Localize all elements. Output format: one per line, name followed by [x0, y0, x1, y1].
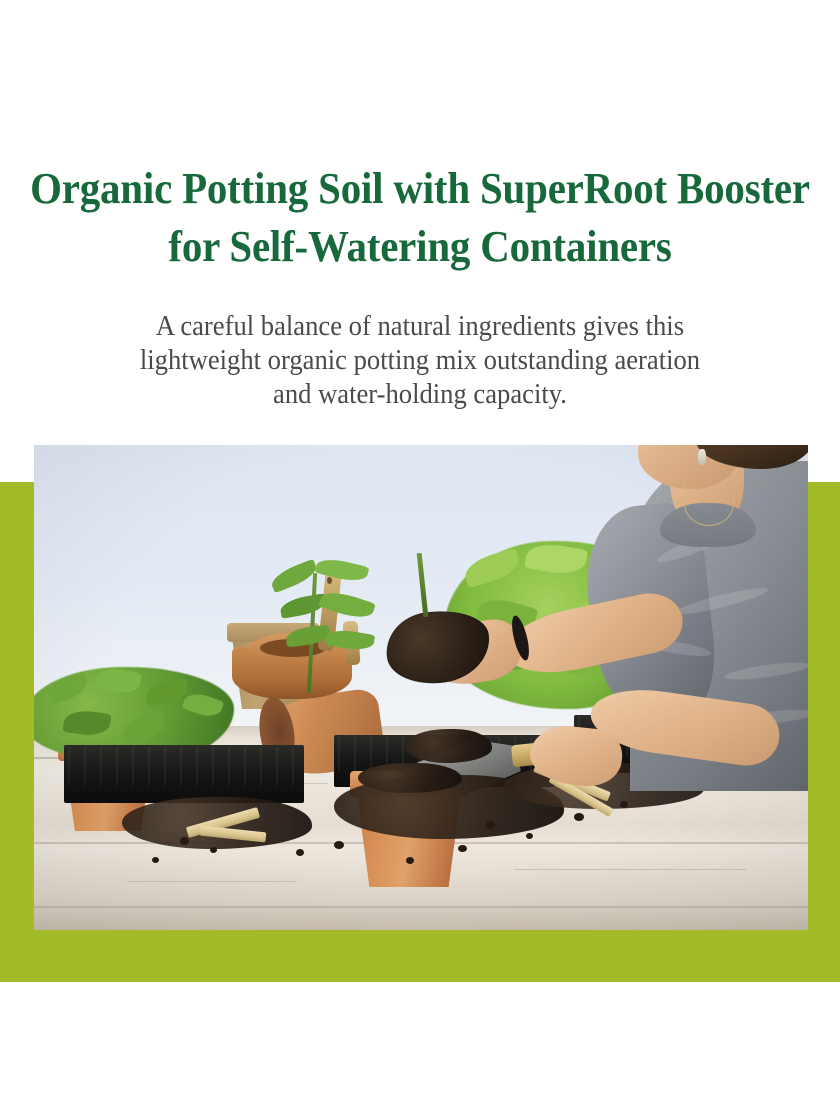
product-description: A careful balance of natural ingredients…	[70, 310, 770, 412]
necklace	[684, 481, 734, 526]
soil-in-pot	[358, 763, 462, 793]
product-page: Organic Potting Soil with SuperRoot Boos…	[0, 0, 840, 1120]
headline-line-1: Organic Potting Soil with SuperRoot Boos…	[29, 160, 810, 218]
hero-photo	[34, 445, 808, 930]
soil-on-trowel	[406, 729, 492, 763]
subtitle-line-3: and water-holding capacity.	[88, 378, 753, 412]
subtitle-line-2: lightweight organic potting mix outstand…	[88, 344, 753, 378]
seedling-tray-left	[64, 745, 304, 803]
earring-icon	[698, 449, 706, 465]
headline-line-2: for Self-Watering Containers	[29, 218, 810, 276]
subtitle-line-1: A careful balance of natural ingredients…	[88, 310, 753, 344]
page-title: Organic Potting Soil with SuperRoot Boos…	[0, 160, 840, 276]
tool-handle-hole	[327, 577, 332, 584]
